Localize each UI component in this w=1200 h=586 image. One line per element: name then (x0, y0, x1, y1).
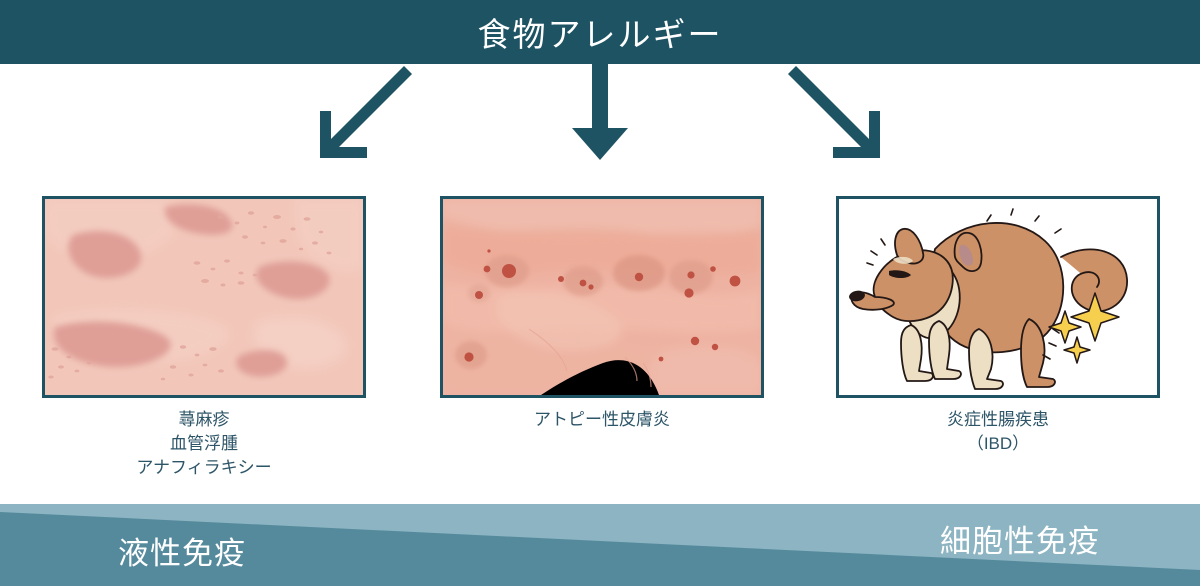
immunity-gradient-banner: 液性免疫 細胞性免疫 (0, 504, 1200, 586)
panel-ibd-image (836, 196, 1160, 398)
caption-urticaria: 蕁麻疹 血管浮腫 アナフィラキシー (42, 408, 366, 480)
panel-urticaria-image (42, 196, 366, 398)
caption-line: 蕁麻疹 (42, 408, 366, 432)
shiba-dog-illustration (839, 199, 1157, 395)
caption-line: 血管浮腫 (42, 432, 366, 456)
column-atopic-dermatitis: アトピー性皮膚炎 (440, 196, 764, 432)
arrow-group (0, 56, 1200, 166)
arrow-center-icon (572, 64, 628, 160)
caption-line: アトピー性皮膚炎 (440, 408, 764, 432)
skin-hives-illustration (45, 199, 363, 395)
arrow-right-icon (788, 66, 880, 158)
caption-atopic-dermatitis: アトピー性皮膚炎 (440, 408, 764, 432)
banner-label-humoral: 液性免疫 (118, 528, 246, 573)
banner-label-cellular: 細胞性免疫 (940, 516, 1100, 561)
column-urticaria: 蕁麻疹 血管浮腫 アナフィラキシー (42, 196, 366, 480)
arrow-left-icon (320, 66, 412, 158)
column-ibd: 炎症性腸疾患 （IBD） (836, 196, 1160, 456)
infographic-page: 食物アレルギー (0, 0, 1200, 586)
caption-line: アナフィラキシー (42, 456, 366, 480)
panel-atopic-dermatitis-image (440, 196, 764, 398)
caption-ibd: 炎症性腸疾患 （IBD） (836, 408, 1160, 456)
page-title: 食物アレルギー (0, 0, 1200, 64)
caption-line: （IBD） (836, 432, 1160, 456)
skin-papules-illustration (443, 199, 761, 395)
caption-line: 炎症性腸疾患 (836, 408, 1160, 432)
